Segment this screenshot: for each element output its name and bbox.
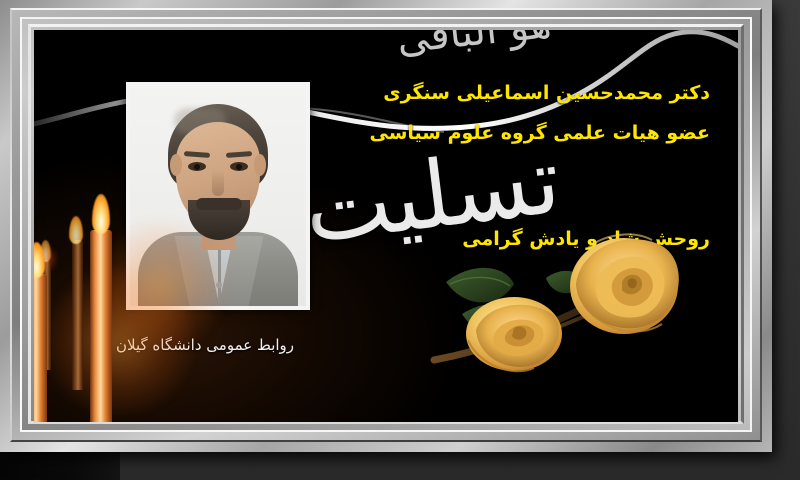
candles-group [34, 190, 150, 422]
deceased-name-line: دکتر محمدحسین اسماعیلی سنگری [383, 82, 710, 104]
deceased-role-line: عضو هیات علمی گروه علوم سیاسی [370, 122, 711, 144]
candle-middle [72, 240, 83, 390]
rose-leaf-upper [446, 268, 514, 303]
rose-flower-left [466, 297, 562, 371]
picture-frame: هو الباقی تسلیت [0, 0, 772, 452]
candle-glow-tall [96, 220, 226, 350]
portrait-nose [212, 170, 224, 196]
candle-flame-tall [92, 194, 110, 234]
portrait-eye-left [188, 162, 206, 171]
portrait-mustache [196, 198, 242, 210]
candle-tall [90, 230, 112, 422]
candle-front-left [34, 274, 47, 422]
candle-flame-middle [69, 216, 83, 244]
calligraphy-hoval-baghi: هو الباقی [363, 30, 586, 63]
portrait-eye-right [230, 162, 248, 171]
roses-illustration [428, 222, 728, 422]
condolence-banner: هو الباقی تسلیت [0, 0, 800, 480]
portrait-ear-right [254, 154, 266, 176]
portrait-ear-left [170, 154, 182, 176]
artwork-canvas: هو الباقی تسلیت [34, 30, 738, 422]
rose-flower-right [570, 234, 679, 334]
